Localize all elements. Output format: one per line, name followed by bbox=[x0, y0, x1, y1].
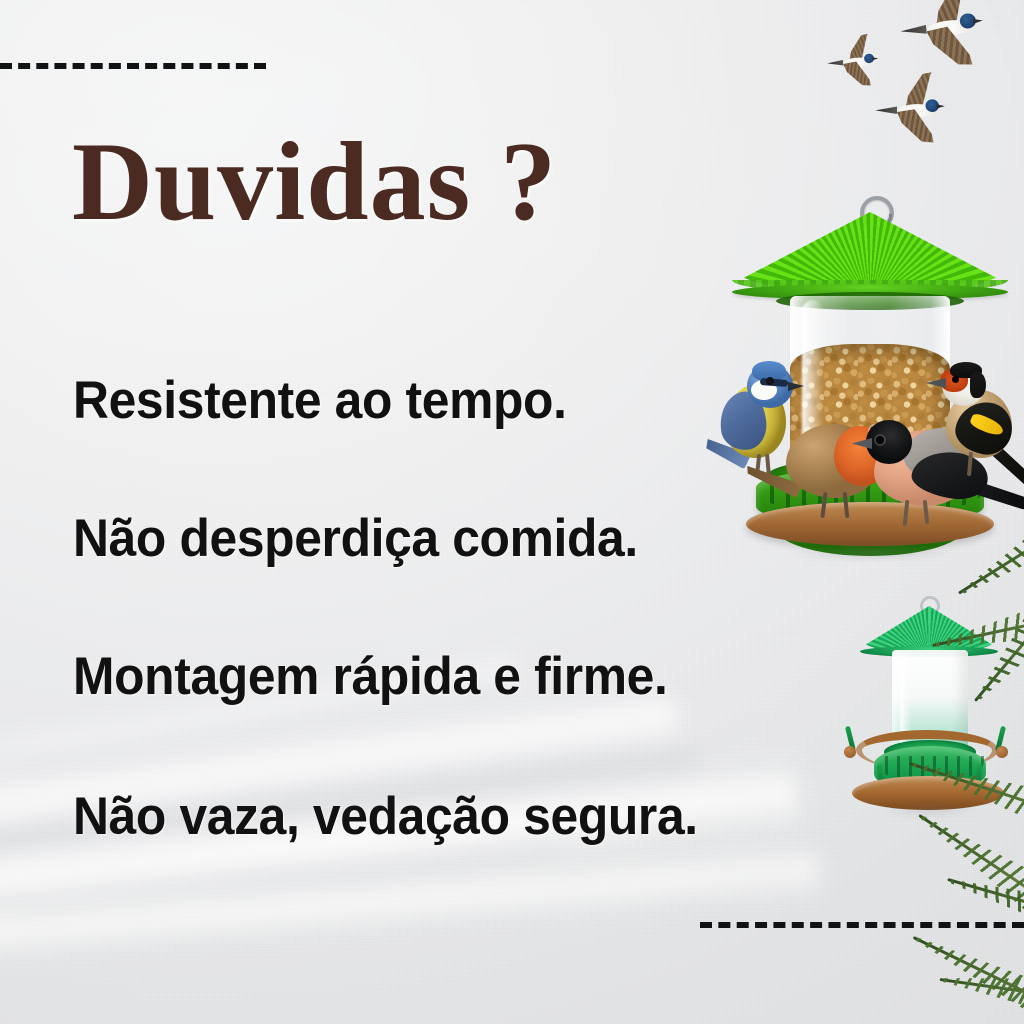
feature-line-no-food-waste: Não desperdiça comida. bbox=[73, 512, 638, 565]
flying-swallow-icon bbox=[836, 45, 884, 85]
bird-leg bbox=[967, 452, 973, 476]
flying-swallow-icon bbox=[888, 88, 952, 141]
feature-line-quick-assembly: Montagem rápida e firme. bbox=[73, 650, 667, 703]
bird-eye bbox=[766, 377, 774, 385]
palm-frond-leaflets bbox=[902, 741, 1024, 844]
palm-frond-leaflets bbox=[903, 916, 1024, 1024]
goldfinch-bird bbox=[938, 362, 1024, 512]
bird-beak bbox=[788, 382, 804, 391]
palm-fronds-decoration bbox=[904, 548, 1024, 1024]
bird-head bbox=[866, 420, 912, 464]
feature-line-no-leak: Não vaza, vedação segura. bbox=[73, 790, 698, 843]
palm-frond-leaflets bbox=[957, 585, 1024, 717]
feeder2-perch-knob bbox=[844, 746, 856, 758]
dashed-divider-top bbox=[0, 63, 266, 69]
bird-leg bbox=[903, 500, 910, 526]
bird-eye bbox=[876, 436, 884, 444]
flying-swallow-icon bbox=[914, 0, 994, 66]
poster-canvas: Duvidas ? Resistente ao tempo. Não despe… bbox=[0, 0, 1024, 1024]
bird-nape bbox=[970, 372, 986, 398]
swallow-beak bbox=[936, 104, 945, 108]
bird-eye bbox=[952, 376, 959, 383]
page-title: Duvidas ? bbox=[72, 126, 557, 238]
palm-frond bbox=[914, 936, 1024, 1019]
dashed-divider-bottom bbox=[700, 922, 1024, 928]
feature-line-weather-resistant: Resistente ao tempo. bbox=[73, 374, 567, 427]
palm-frond bbox=[940, 978, 1024, 999]
palm-frond bbox=[910, 762, 1024, 819]
palm-frond bbox=[932, 613, 1024, 644]
